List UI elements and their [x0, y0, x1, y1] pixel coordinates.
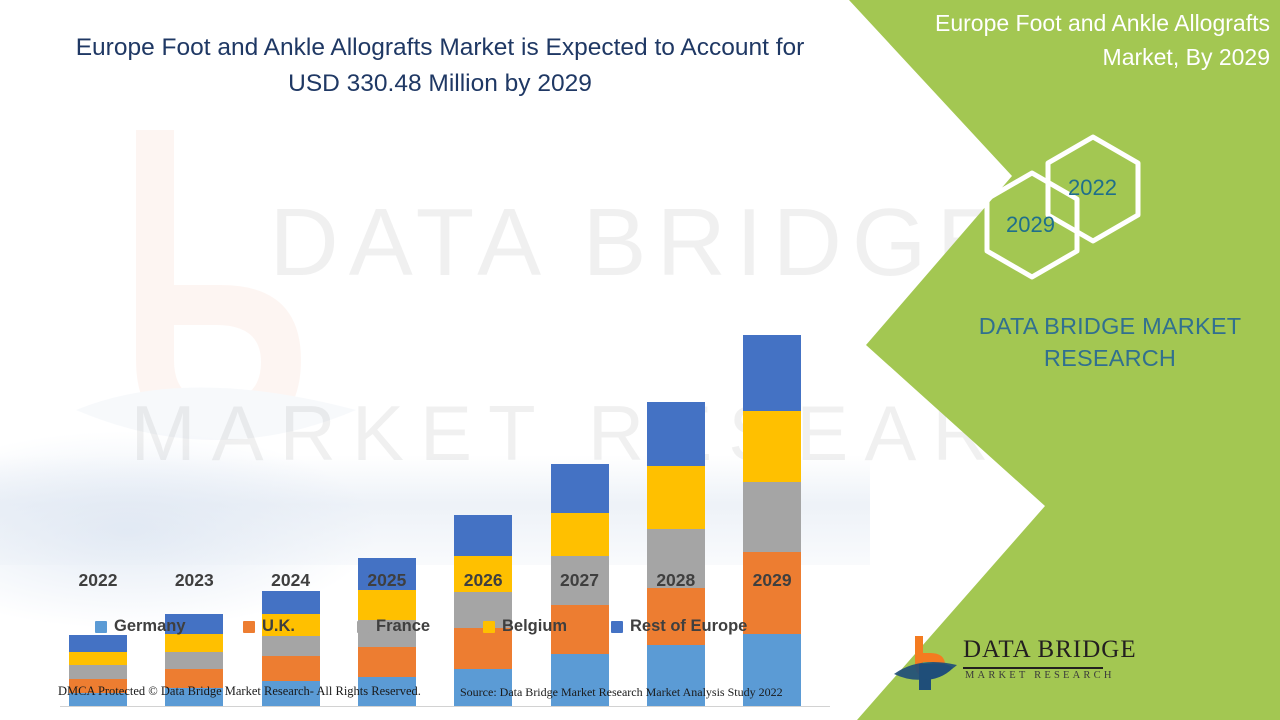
legend-label: U.K.	[262, 617, 295, 636]
bar-segment	[454, 515, 512, 556]
bar-segment	[647, 466, 705, 528]
legend-swatch-icon	[611, 621, 623, 633]
bar-segment	[743, 411, 801, 482]
legend-label: Rest of Europe	[630, 617, 747, 636]
hexagon-badges: 2022 2029	[975, 125, 1190, 290]
footer-source: Source: Data Bridge Market Research Mark…	[460, 685, 783, 700]
x-axis-label: 2028	[628, 570, 724, 591]
bar-segment	[69, 652, 127, 665]
company-logo: DATA BRIDGE MARKET RESEARCH	[893, 632, 1108, 694]
x-axis-line	[60, 706, 830, 707]
chart-plot-area	[60, 150, 840, 560]
x-axis-label: 2022	[50, 570, 146, 591]
legend-item[interactable]: Rest of Europe	[611, 617, 747, 636]
x-axis-label: 2025	[339, 570, 435, 591]
logo-subtitle: MARKET RESEARCH	[965, 670, 1115, 681]
legend-item[interactable]: U.K.	[243, 617, 295, 636]
bar-segment	[262, 656, 320, 681]
legend-swatch-icon	[243, 621, 255, 633]
bar-segment	[165, 652, 223, 669]
bar-segment	[551, 464, 609, 514]
legend-item[interactable]: Belgium	[483, 617, 567, 636]
panel-brand-text: DATA BRIDGE MARKET RESEARCH	[960, 310, 1260, 374]
legend-label: Germany	[114, 617, 186, 636]
x-axis-label: 2027	[532, 570, 628, 591]
x-axis-label: 2026	[435, 570, 531, 591]
panel-title: Europe Foot and Ankle Allografts Market,…	[900, 6, 1270, 74]
logo-mark-icon	[893, 634, 959, 692]
bar-segment	[743, 335, 801, 411]
footer-copyright: DMCA Protected © Data Bridge Market Rese…	[58, 684, 421, 699]
legend-swatch-icon	[95, 621, 107, 633]
logo-rule	[963, 667, 1103, 669]
legend-swatch-icon	[357, 621, 369, 633]
x-axis-label: 2029	[724, 570, 820, 591]
x-axis-label: 2024	[243, 570, 339, 591]
legend-label: Belgium	[502, 617, 567, 636]
chart-title: Europe Foot and Ankle Allografts Market …	[60, 30, 820, 102]
bar-segment	[69, 665, 127, 679]
panel-brand-line-2: RESEARCH	[960, 342, 1260, 374]
legend-label: France	[376, 617, 430, 636]
logo-wordmark: DATA BRIDGE	[963, 636, 1137, 664]
hexagon-label-2029: 2029	[1006, 212, 1055, 238]
legend-item[interactable]: Germany	[95, 617, 186, 636]
x-axis-label: 2023	[146, 570, 242, 591]
legend-swatch-icon	[483, 621, 495, 633]
panel-brand-line-1: DATA BRIDGE MARKET	[960, 310, 1260, 342]
hexagon-label-2022: 2022	[1068, 175, 1117, 201]
chart-legend: GermanyU.K.FranceBelgiumRest of Europe	[95, 617, 815, 641]
bar-segment	[551, 513, 609, 556]
bar-segment	[647, 402, 705, 466]
bar-segment	[358, 647, 416, 676]
bar-segment	[743, 482, 801, 551]
legend-item[interactable]: France	[357, 617, 430, 636]
x-axis-labels: 20222023202420252026202720282029	[60, 570, 840, 598]
